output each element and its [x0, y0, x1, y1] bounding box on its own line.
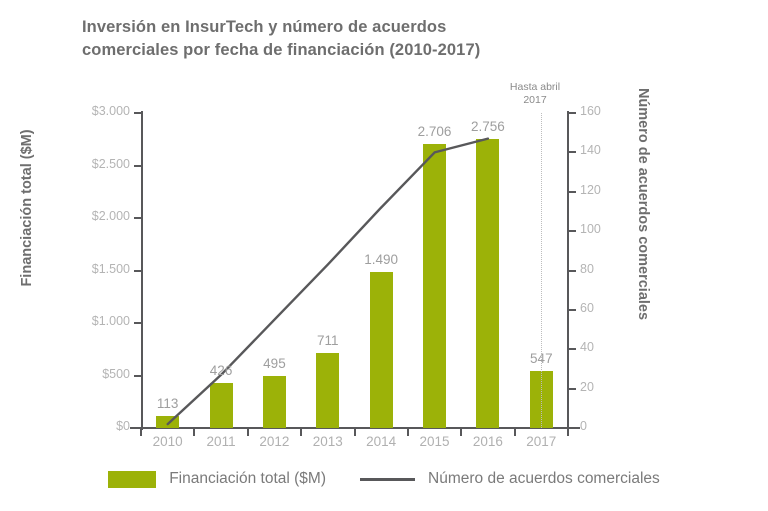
y-axis-left-tick — [134, 322, 141, 324]
y-axis-left-tick-label: $3.000 — [92, 104, 130, 118]
y-axis-right-title: Número de acuerdos comerciales — [635, 84, 651, 324]
y-axis-right-tick-label: 140 — [580, 143, 601, 157]
y-axis-right-tick-label: 120 — [580, 183, 601, 197]
chart-title-line-2: comerciales por fecha de financiación (2… — [82, 39, 642, 62]
y-axis-right-tick-label: 60 — [580, 301, 594, 315]
cutoff-annotation-line-2: 2017 — [480, 94, 590, 107]
line-series — [141, 113, 568, 428]
deal-count-line — [168, 139, 488, 425]
x-axis-tick-label: 2015 — [405, 434, 465, 449]
chart-legend: Financiación total ($M) Número de acuerd… — [0, 470, 768, 488]
y-axis-left-tick — [134, 375, 141, 377]
chart-container: Inversión en InsurTech y número de acuer… — [0, 0, 768, 511]
y-axis-left-tick — [134, 165, 141, 167]
y-axis-right-tick — [569, 388, 576, 390]
bar-label-2012: 495 — [234, 356, 314, 371]
bar-label-2016: 2.756 — [448, 119, 528, 134]
legend-item-funding[interactable]: Financiación total ($M) — [108, 470, 326, 488]
legend-label-deals: Número de acuerdos comerciales — [428, 470, 660, 488]
x-axis-tick-label: 2017 — [511, 434, 571, 449]
y-axis-left-tick-label: $1.500 — [92, 262, 130, 276]
legend-item-deals[interactable]: Número de acuerdos comerciales — [360, 470, 660, 488]
cutoff-dotted-line — [541, 113, 542, 428]
x-axis-tick-label: 2011 — [191, 434, 251, 449]
x-axis-tick-label: 2013 — [298, 434, 358, 449]
cutoff-annotation: Hasta abril 2017 — [480, 81, 590, 107]
x-axis-tick-label: 2012 — [244, 434, 304, 449]
y-axis-right-tick — [569, 112, 576, 114]
y-axis-left-title: Financiación total ($M) — [19, 88, 35, 328]
legend-label-funding: Financiación total ($M) — [169, 470, 326, 488]
y-axis-right-tick-label: 20 — [580, 380, 594, 394]
bar-label-2013: 711 — [288, 333, 368, 348]
y-axis-right-tick — [569, 230, 576, 232]
y-axis-right-tick-label: 40 — [580, 340, 594, 354]
y-axis-right-tick — [569, 151, 576, 153]
bar-label-2014: 1.490 — [341, 252, 421, 267]
y-axis-left-tick-label: $1.000 — [92, 314, 130, 328]
x-axis-tick-label: 2016 — [458, 434, 518, 449]
y-axis-right-tick-label: 100 — [580, 222, 601, 236]
cutoff-annotation-line-1: Hasta abril — [480, 81, 590, 94]
y-axis-right-tick — [569, 309, 576, 311]
chart-title: Inversión en InsurTech y número de acuer… — [82, 16, 642, 63]
legend-line-swatch-icon — [360, 478, 415, 481]
y-axis-left-tick — [134, 112, 141, 114]
y-axis-left-tick — [134, 217, 141, 219]
y-axis-right-tick — [569, 270, 576, 272]
y-axis-left-tick-label: $500 — [102, 367, 130, 381]
x-axis-tick-label: 2014 — [351, 434, 411, 449]
y-axis-left-tick-label: $2.000 — [92, 209, 130, 223]
y-axis-left-tick-label: $2.500 — [92, 157, 130, 171]
y-axis-right-tick-label: 0 — [580, 419, 587, 433]
y-axis-right-tick-label: 80 — [580, 262, 594, 276]
chart-title-line-1: Inversión en InsurTech y número de acuer… — [82, 16, 642, 39]
x-axis-tick-label: 2010 — [138, 434, 198, 449]
bar-label-2010: 113 — [128, 396, 208, 411]
legend-bar-swatch-icon — [108, 471, 156, 488]
y-axis-right-tick — [569, 427, 576, 429]
y-axis-left-tick-label: $0 — [116, 419, 130, 433]
plot-area — [141, 113, 568, 428]
y-axis-left-tick — [134, 270, 141, 272]
y-axis-right-tick — [569, 191, 576, 193]
